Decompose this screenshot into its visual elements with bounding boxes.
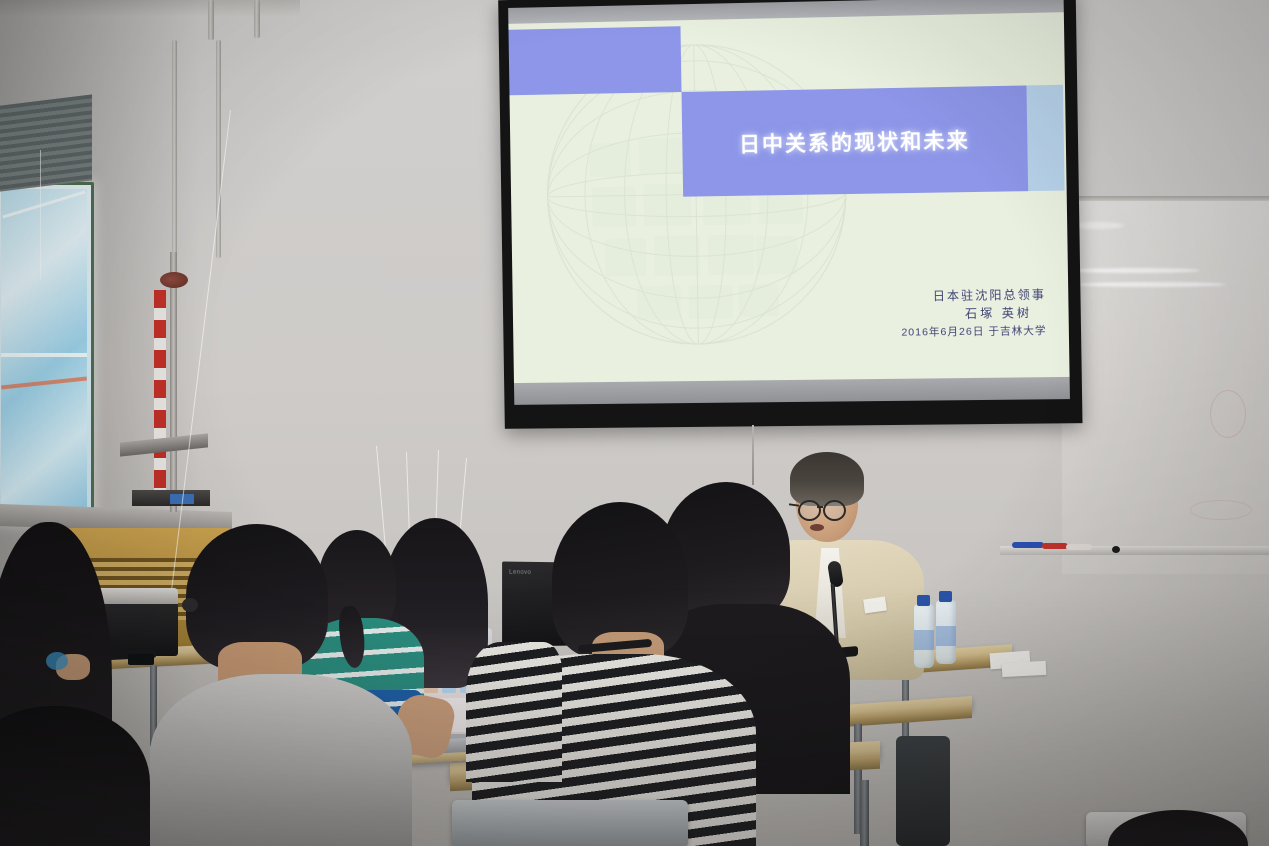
projection-screen: 日中关系的现状和未来 日本驻沈阳总领事 石塚 英树 2016年6月26日 于吉林…: [498, 0, 1082, 429]
slide-accent-block-lightblue: [1026, 85, 1064, 191]
whiteboard-eraser-smudge-b: [1078, 282, 1226, 287]
window: [0, 182, 94, 524]
speaker-hair: [790, 452, 864, 506]
whiteboard-marker-white[interactable]: [1066, 544, 1092, 550]
conduit-pipe-vertical-a: [208, 0, 214, 40]
speaker-mouth: [810, 524, 824, 531]
classroom-photo-scene: vev + C·) -v: [0, 0, 1269, 846]
projection-screen-surface: 日中关系的现状和未来 日本驻沈阳总领事 石塚 英树 2016年6月26日 于吉林…: [508, 0, 1070, 405]
slide-credit-date: 2016年6月26日 于吉林大学: [901, 323, 1046, 341]
conduit-pipe-down-a: [172, 40, 177, 258]
slide-credit-role: 日本驻沈阳总领事: [901, 285, 1046, 306]
floor-shadow: [0, 586, 1269, 846]
blind-cord: [40, 150, 41, 280]
whiteboard-marker-cap: [1112, 546, 1120, 553]
lenovo-brand-label: Lenovo: [509, 570, 531, 576]
conduit-pipe-vertical-b: [254, 0, 260, 38]
whiteboard-marker-blue[interactable]: [1012, 542, 1044, 548]
whiteboard-top-rail: [1062, 196, 1269, 201]
slide-credit-name: 石塚 英树: [901, 304, 1046, 325]
slide-credits: 日本驻沈阳总领事 石塚 英树 2016年6月26日 于吉林大学: [901, 285, 1047, 341]
speaker-glasses-bridge: [817, 506, 823, 508]
valve-wheel: [160, 272, 188, 288]
fire-standpipe-post: [154, 290, 166, 500]
slide-title: 日中关系的现状和未来: [682, 85, 1029, 196]
standpipe: [170, 252, 177, 512]
slide-accent-block-top: [508, 26, 681, 95]
window-mullion-h: [1, 353, 87, 357]
whiteboard-red-mark-b: [1190, 500, 1252, 520]
presentation-slide: 日中关系的现状和未来 日本驻沈阳总领事 石塚 英树 2016年6月26日 于吉林…: [508, 12, 1069, 383]
whiteboard-eraser-smudge-a: [1072, 268, 1200, 273]
window-blinds: [0, 94, 92, 191]
whiteboard-marker-red[interactable]: [1042, 543, 1068, 549]
speaker-glasses-left-lens: [798, 500, 821, 521]
speaker-glasses-right-lens: [823, 500, 846, 521]
screen-pull-cord[interactable]: [752, 425, 754, 485]
whiteboard-red-mark-a: [1210, 390, 1246, 438]
